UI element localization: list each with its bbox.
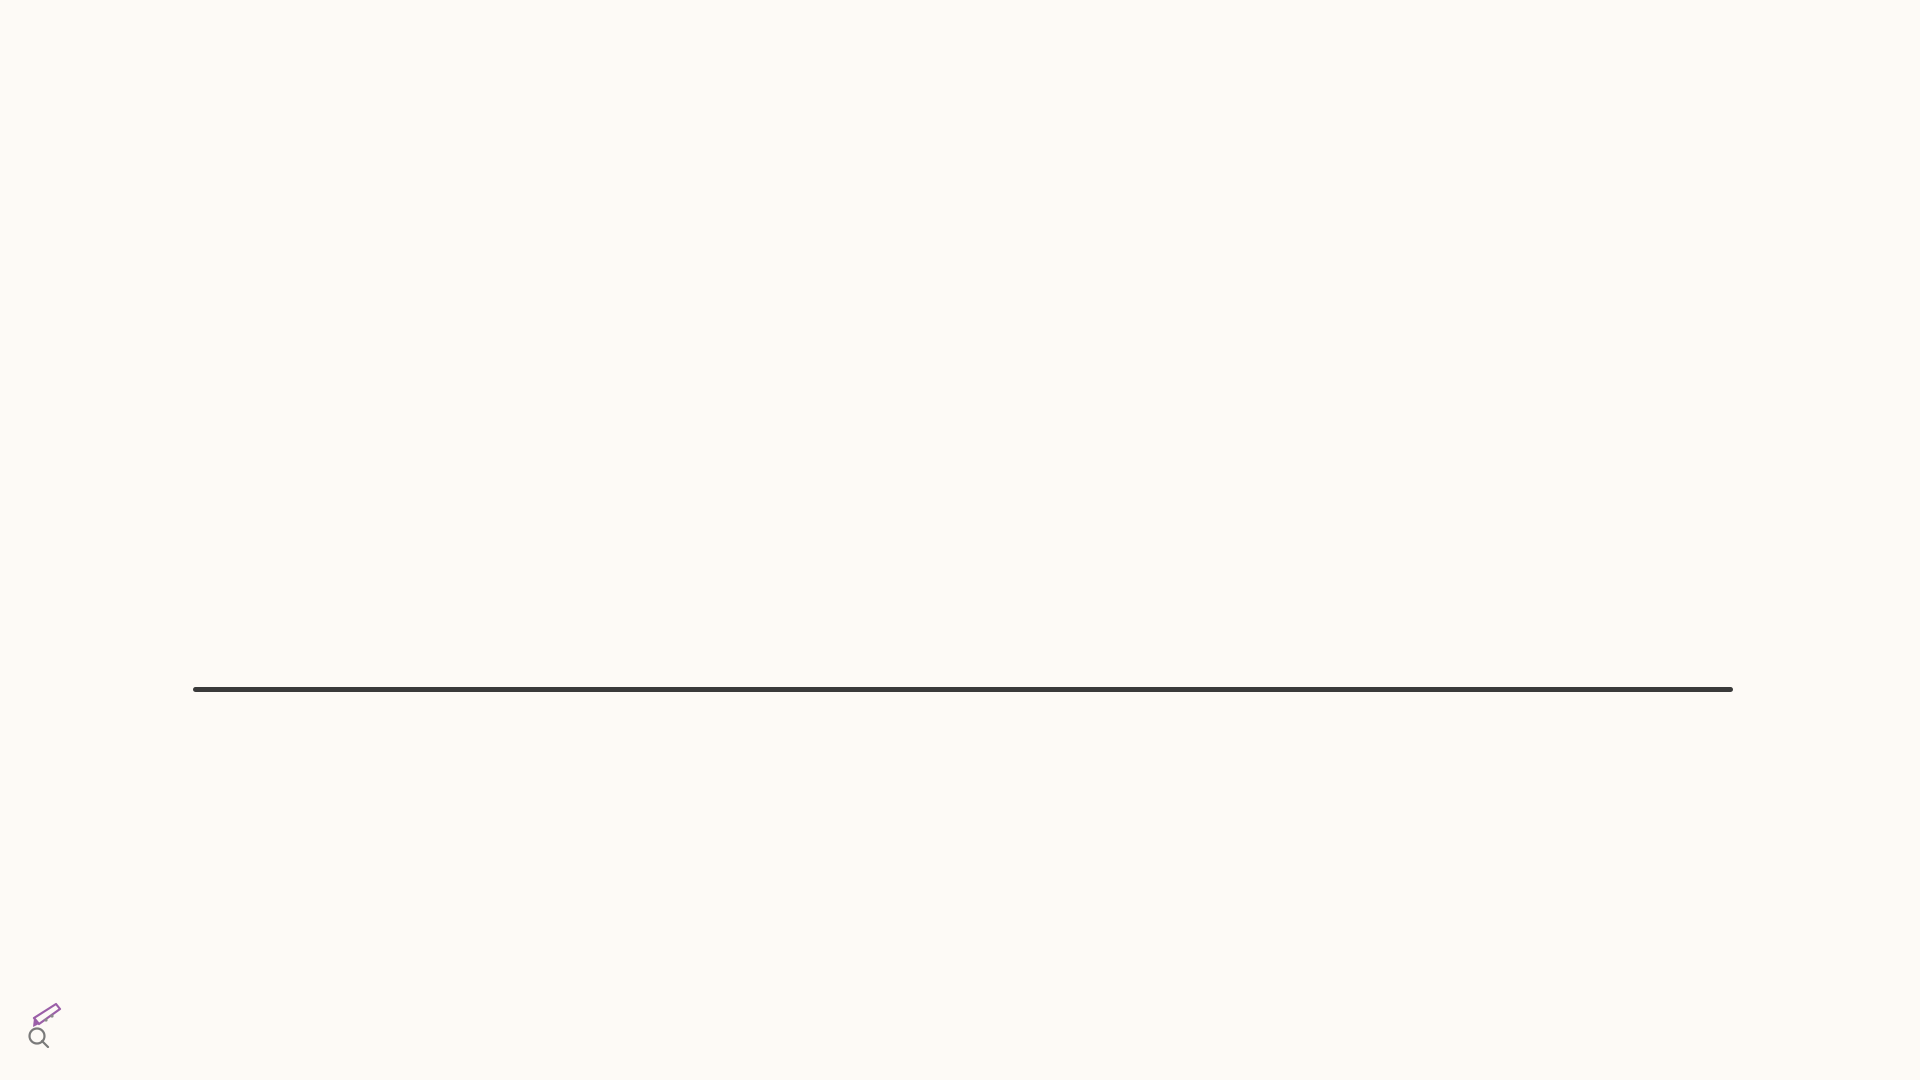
infographic-canvas [0,0,1920,1080]
timeline-axis [193,687,1733,692]
brand-logo [26,1000,68,1048]
magnifier-pencil-icon [26,1000,66,1048]
